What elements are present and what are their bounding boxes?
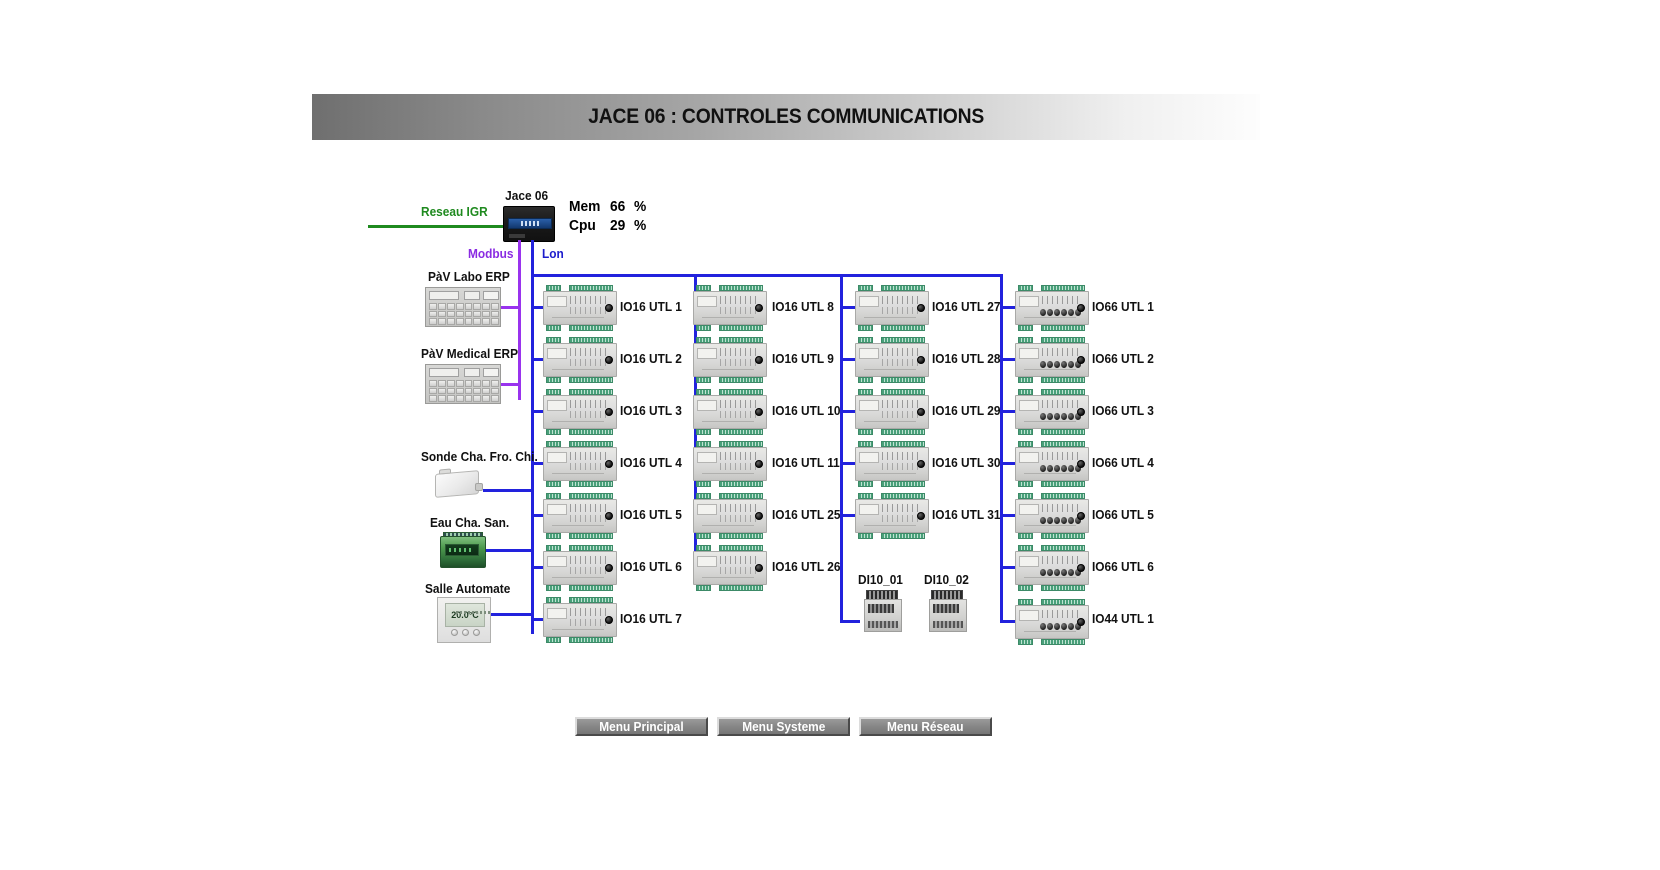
device-label-pav-labo: PàV Labo ERP (428, 270, 510, 284)
device-pav-medical-erp[interactable] (425, 364, 501, 404)
module-io44-utl-1[interactable] (1015, 599, 1089, 645)
module-io16-utl-29[interactable] (855, 389, 929, 435)
thermostat-buttons[interactable] (446, 629, 484, 637)
module-label-io16-utl-5: IO16 UTL 5 (620, 508, 682, 522)
module-bottom-terminals (543, 533, 617, 539)
module-body (543, 291, 617, 325)
menu-reseau-label: Menu Réseau (887, 720, 964, 734)
module-bottom-terminals (543, 325, 617, 331)
module-bottom-terminals (543, 481, 617, 487)
device-label-eau: Eau Cha. San. (430, 516, 509, 530)
status-led-icon (1077, 564, 1085, 572)
thermostat-screen: 20.0°C (445, 603, 485, 627)
keypad-display-small (464, 368, 480, 377)
module-body (543, 395, 617, 429)
keypad-display-small (464, 291, 480, 300)
stat-mem-value: 66 (610, 199, 625, 215)
keypad-display-aux (483, 368, 499, 377)
device-sonde-cha-fro-chi[interactable] (433, 468, 483, 500)
module-io16-utl-4[interactable] (543, 441, 617, 487)
stat-cpu-label: Cpu (569, 218, 596, 234)
keypad-keys (429, 303, 499, 325)
status-led-icon (605, 408, 613, 416)
module-bottom-terminals (693, 585, 767, 591)
module-io16-utl-26[interactable] (693, 545, 767, 591)
status-led-icon (605, 512, 613, 520)
module-body (693, 551, 767, 585)
module-label-di10-02: DI10_02 (924, 573, 969, 587)
module-bottom-terminals (855, 429, 929, 435)
lon-trunk (531, 240, 534, 274)
module-label-io44-utl-1: IO44 UTL 1 (1092, 612, 1154, 626)
module-io66-utl-2[interactable] (1015, 337, 1089, 383)
lon-bus-label: Lon (542, 247, 564, 261)
module-io16-utl-10[interactable] (693, 389, 767, 435)
keypad-display-aux (483, 291, 499, 300)
green-module-display (445, 544, 479, 556)
page-header: JACE 06 : CONTROLES COMMUNICATIONS (312, 94, 1260, 140)
module-bottom-terminals (1015, 377, 1089, 383)
status-led-icon (1077, 356, 1085, 364)
c3-branch-5 (840, 514, 856, 517)
module-bottom-terminals (855, 481, 929, 487)
module-bottom-terminals (543, 585, 617, 591)
module-body (1015, 447, 1089, 481)
status-led-icon (917, 356, 925, 364)
module-label-io16-utl-8: IO16 UTL 8 (772, 300, 834, 314)
module-bottom-terminals (1015, 533, 1089, 539)
module-di10-02[interactable] (929, 590, 967, 632)
module-body (855, 395, 929, 429)
module-label-io66-utl-2: IO66 UTL 2 (1092, 352, 1154, 366)
status-led-icon (755, 304, 763, 312)
stat-mem-label: Mem (569, 199, 600, 215)
status-led-icon (917, 460, 925, 468)
module-body (693, 343, 767, 377)
module-bottom-terminals (1015, 429, 1089, 435)
module-io16-utl-25[interactable] (693, 493, 767, 539)
module-bottom-terminals (855, 377, 929, 383)
module-label-io16-utl-11: IO16 UTL 11 (772, 456, 840, 470)
module-label-io16-utl-9: IO16 UTL 9 (772, 352, 834, 366)
module-label-io66-utl-3: IO66 UTL 3 (1092, 404, 1154, 418)
c4-branch-3 (1000, 410, 1016, 413)
module-label-di10-01: DI10_01 (858, 573, 903, 587)
page-title: JACE 06 : CONTROLES COMMUNICATIONS (588, 105, 984, 129)
keypad-display (429, 291, 459, 300)
status-led-icon (1077, 618, 1085, 626)
status-led-icon (605, 564, 613, 572)
c3-branch-di (840, 620, 860, 623)
module-bottom-terminals (693, 429, 767, 435)
status-led-icon (755, 356, 763, 364)
module-label-io16-utl-28: IO16 UTL 28 (932, 352, 1000, 366)
module-body (855, 447, 929, 481)
module-body (1015, 499, 1089, 533)
status-led-icon (1077, 304, 1085, 312)
menu-systeme-button[interactable]: Menu Systeme (717, 717, 850, 736)
c3-branch-3 (840, 410, 856, 413)
c4-branch-1 (1000, 306, 1016, 309)
module-body (855, 499, 929, 533)
c4-branch-7 (1000, 620, 1016, 623)
status-led-icon (917, 408, 925, 416)
device-label-sonde: Sonde Cha. Fro. Chi. (421, 450, 538, 464)
status-led-icon (605, 356, 613, 364)
module-io16-utl-3[interactable] (543, 389, 617, 435)
module-bottom-terminals (855, 325, 929, 331)
c3-riser (840, 274, 843, 622)
device-label-pav-medical: PàV Medical ERP (421, 347, 518, 361)
di10-body (929, 599, 967, 632)
module-body (855, 343, 929, 377)
c4-branch-6 (1000, 566, 1016, 569)
module-io66-utl-6[interactable] (1015, 545, 1089, 591)
module-label-io66-utl-4: IO66 UTL 4 (1092, 456, 1154, 470)
jace-controller[interactable] (503, 206, 555, 242)
c4-riser (1000, 274, 1003, 622)
jace-display (508, 218, 552, 229)
c4-branch-2 (1000, 358, 1016, 361)
module-bottom-terminals (1015, 481, 1089, 487)
di10-body (864, 599, 902, 632)
module-io16-utl-28[interactable] (855, 337, 929, 383)
lon-backbone (531, 274, 1002, 277)
modbus-branch-1 (500, 306, 520, 309)
stat-cpu-unit: % (634, 218, 646, 234)
module-label-io16-utl-7: IO16 UTL 7 (620, 612, 682, 626)
lon-branch-eau (483, 549, 531, 552)
module-label-io16-utl-2: IO16 UTL 2 (620, 352, 682, 366)
module-body (855, 291, 929, 325)
module-label-io16-utl-27: IO16 UTL 27 (932, 300, 1000, 314)
keypad-display (429, 368, 459, 377)
module-io66-utl-1[interactable] (1015, 285, 1089, 331)
sonde-body (435, 470, 479, 498)
module-body (693, 291, 767, 325)
module-bottom-terminals (543, 637, 617, 643)
status-led-icon (1077, 408, 1085, 416)
module-bottom-terminals (1015, 325, 1089, 331)
module-label-io16-utl-3: IO16 UTL 3 (620, 404, 682, 418)
module-io16-utl-7[interactable] (543, 597, 617, 643)
modbus-trunk (518, 240, 521, 400)
module-label-io16-utl-29: IO16 UTL 29 (932, 404, 1000, 418)
module-io16-utl-5[interactable] (543, 493, 617, 539)
status-led-icon (917, 512, 925, 520)
module-bottom-terminals (693, 533, 767, 539)
module-label-io66-utl-1: IO66 UTL 1 (1092, 300, 1154, 314)
module-body (693, 447, 767, 481)
module-label-io16-utl-31: IO16 UTL 31 (932, 508, 1000, 522)
module-body (543, 551, 617, 585)
module-label-io16-utl-30: IO16 UTL 30 (932, 456, 1000, 470)
module-bottom-terminals (543, 377, 617, 383)
module-io66-utl-5[interactable] (1015, 493, 1089, 539)
module-body (1015, 395, 1089, 429)
module-label-io16-utl-26: IO16 UTL 26 (772, 560, 840, 574)
menu-principal-button[interactable]: Menu Principal (575, 717, 708, 736)
status-led-icon (605, 616, 613, 624)
module-io16-utl-30[interactable] (855, 441, 929, 487)
jace-label: Jace 06 (505, 189, 548, 203)
module-bottom-terminals (1015, 639, 1089, 645)
module-body (543, 343, 617, 377)
module-io16-utl-31[interactable] (855, 493, 929, 539)
lon-branch-sonde (483, 489, 531, 492)
status-led-icon (755, 460, 763, 468)
device-pav-labo-erp[interactable] (425, 287, 501, 327)
module-label-io16-utl-4: IO16 UTL 4 (620, 456, 682, 470)
keypad-keys (429, 380, 499, 402)
module-body (693, 499, 767, 533)
module-io16-utl-1[interactable] (543, 285, 617, 331)
module-body (1015, 343, 1089, 377)
module-bottom-terminals (543, 429, 617, 435)
stat-cpu-value: 29 (610, 218, 625, 234)
reseau-igr-label: Reseau IGR (421, 205, 488, 219)
module-bottom-terminals (693, 481, 767, 487)
module-body (543, 603, 617, 637)
module-bottom-terminals (693, 377, 767, 383)
module-io16-utl-8[interactable] (693, 285, 767, 331)
module-label-io66-utl-6: IO66 UTL 6 (1092, 560, 1154, 574)
c3-branch-1 (840, 306, 856, 309)
stat-mem-unit: % (634, 199, 646, 215)
module-io16-utl-11[interactable] (693, 441, 767, 487)
status-led-icon (755, 408, 763, 416)
module-body (1015, 605, 1089, 639)
status-led-icon (1077, 460, 1085, 468)
c4-branch-4 (1000, 462, 1016, 465)
module-bottom-terminals (1015, 585, 1089, 591)
status-led-icon (605, 304, 613, 312)
status-led-icon (917, 304, 925, 312)
status-led-icon (755, 512, 763, 520)
module-label-io16-utl-1: IO16 UTL 1 (620, 300, 682, 314)
device-eau-cha-san[interactable] (440, 532, 486, 568)
module-body (693, 395, 767, 429)
jace-port (509, 234, 525, 238)
status-led-icon (1077, 512, 1085, 520)
device-salle-automate-thermostat[interactable]: 20.0°C (437, 597, 491, 643)
menu-systeme-label: Menu Systeme (742, 720, 825, 734)
menu-principal-label: Menu Principal (599, 720, 683, 734)
module-bottom-terminals (855, 533, 929, 539)
c3-branch-4 (840, 462, 856, 465)
c4-branch-5 (1000, 514, 1016, 517)
schematic-page: JACE 06 : CONTROLES COMMUNICATIONS Resea… (0, 0, 1660, 870)
sonde-cable-gland (475, 483, 483, 491)
module-io16-utl-2[interactable] (543, 337, 617, 383)
module-label-io16-utl-6: IO16 UTL 6 (620, 560, 682, 574)
module-io16-utl-6[interactable] (543, 545, 617, 591)
module-io66-utl-3[interactable] (1015, 389, 1089, 435)
module-label-io16-utl-10: IO16 UTL 10 (772, 404, 840, 418)
module-body (543, 499, 617, 533)
modbus-branch-2 (500, 383, 520, 386)
module-io66-utl-4[interactable] (1015, 441, 1089, 487)
status-led-icon (755, 564, 763, 572)
module-body (1015, 551, 1089, 585)
module-di10-01[interactable] (864, 590, 902, 632)
modbus-bus-label: Modbus (468, 247, 514, 261)
module-body (1015, 291, 1089, 325)
module-label-io16-utl-25: IO16 UTL 25 (772, 508, 840, 522)
module-bottom-terminals (693, 325, 767, 331)
c3-branch-2 (840, 358, 856, 361)
device-label-salle: Salle Automate (425, 582, 510, 596)
module-io16-utl-27[interactable] (855, 285, 929, 331)
status-led-icon (605, 460, 613, 468)
module-label-io66-utl-5: IO66 UTL 5 (1092, 508, 1154, 522)
module-io16-utl-9[interactable] (693, 337, 767, 383)
module-body (543, 447, 617, 481)
thermostat-screen-header (456, 611, 490, 614)
menu-reseau-button[interactable]: Menu Réseau (859, 717, 992, 736)
